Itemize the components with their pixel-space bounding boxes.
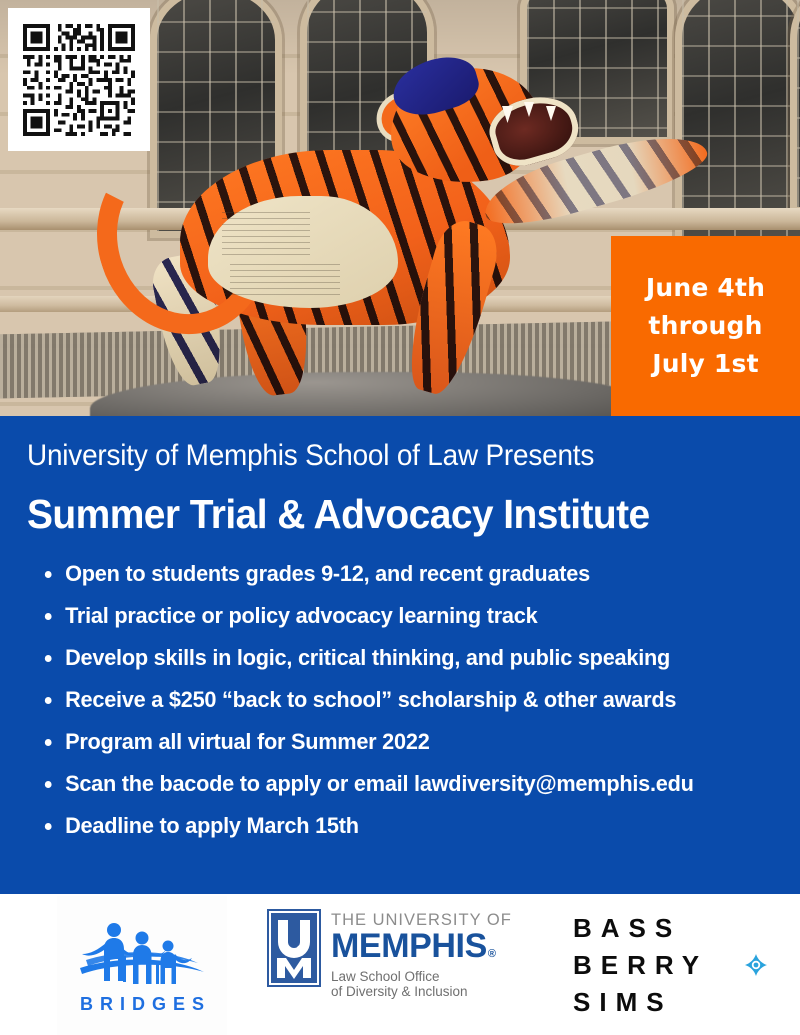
bridges-wordmark: BRIDGES bbox=[73, 994, 211, 1015]
logo-bridges: BRIDGES bbox=[57, 896, 227, 1035]
uofm-registered-mark: ® bbox=[488, 937, 496, 971]
list-item: Deadline to apply March 15th bbox=[40, 805, 759, 847]
date-line-2: through bbox=[648, 307, 762, 345]
date-line-3: July 1st bbox=[652, 345, 759, 383]
tiger-belly-panel bbox=[208, 196, 398, 308]
list-item: Scan the bacode to apply or email lawdiv… bbox=[40, 763, 759, 805]
program-details-list: Open to students grades 9-12, and recent… bbox=[40, 553, 785, 847]
building-window bbox=[790, 0, 800, 214]
bridges-people-icon bbox=[76, 916, 208, 992]
qr-code-card[interactable] bbox=[8, 8, 150, 151]
diamond-accent-icon bbox=[745, 954, 767, 976]
list-item: Receive a $250 “back to school” scholars… bbox=[40, 679, 759, 721]
bass-line-1: BASS bbox=[573, 910, 773, 947]
uofm-office-line-1: Law School Office bbox=[331, 969, 512, 985]
poster-flyer: June 4th through July 1st University of … bbox=[0, 0, 800, 1035]
bass-line-2: BERRY bbox=[573, 947, 773, 984]
presenter-line: University of Memphis School of Law Pres… bbox=[27, 439, 594, 473]
date-line-1: June 4th bbox=[646, 269, 765, 307]
u-of-m-shield-icon: of bbox=[266, 908, 322, 988]
logo-bass-berry-sims: BASS BERRY SIMS bbox=[573, 910, 773, 1022]
bass-line-3: SIMS bbox=[573, 984, 773, 1021]
qr-code-icon[interactable] bbox=[23, 24, 135, 136]
uofm-memphis-wordmark: MEMPHIS bbox=[331, 929, 487, 963]
list-item: Open to students grades 9-12, and recent… bbox=[40, 553, 759, 595]
logo-university-of-memphis: of THE UNIVERSITY OF MEMPHIS® Law School… bbox=[266, 908, 540, 1024]
date-badge: June 4th through July 1st bbox=[611, 236, 800, 416]
uofm-office-line-2: of Diversity & Inclusion bbox=[331, 984, 512, 1000]
sponsor-footer: BRIDGES of THE UNIVERSITY OF MEMPHIS® bbox=[0, 894, 800, 1035]
hero-photo-tiger-sculpture: June 4th through July 1st bbox=[0, 0, 800, 416]
content-band: University of Memphis School of Law Pres… bbox=[0, 416, 800, 894]
list-item: Trial practice or policy advocacy learni… bbox=[40, 595, 759, 637]
list-item: Program all virtual for Summer 2022 bbox=[40, 721, 759, 763]
list-item: Develop skills in logic, critical thinki… bbox=[40, 637, 759, 679]
page-title: Summer Trial & Advocacy Institute bbox=[27, 491, 650, 538]
